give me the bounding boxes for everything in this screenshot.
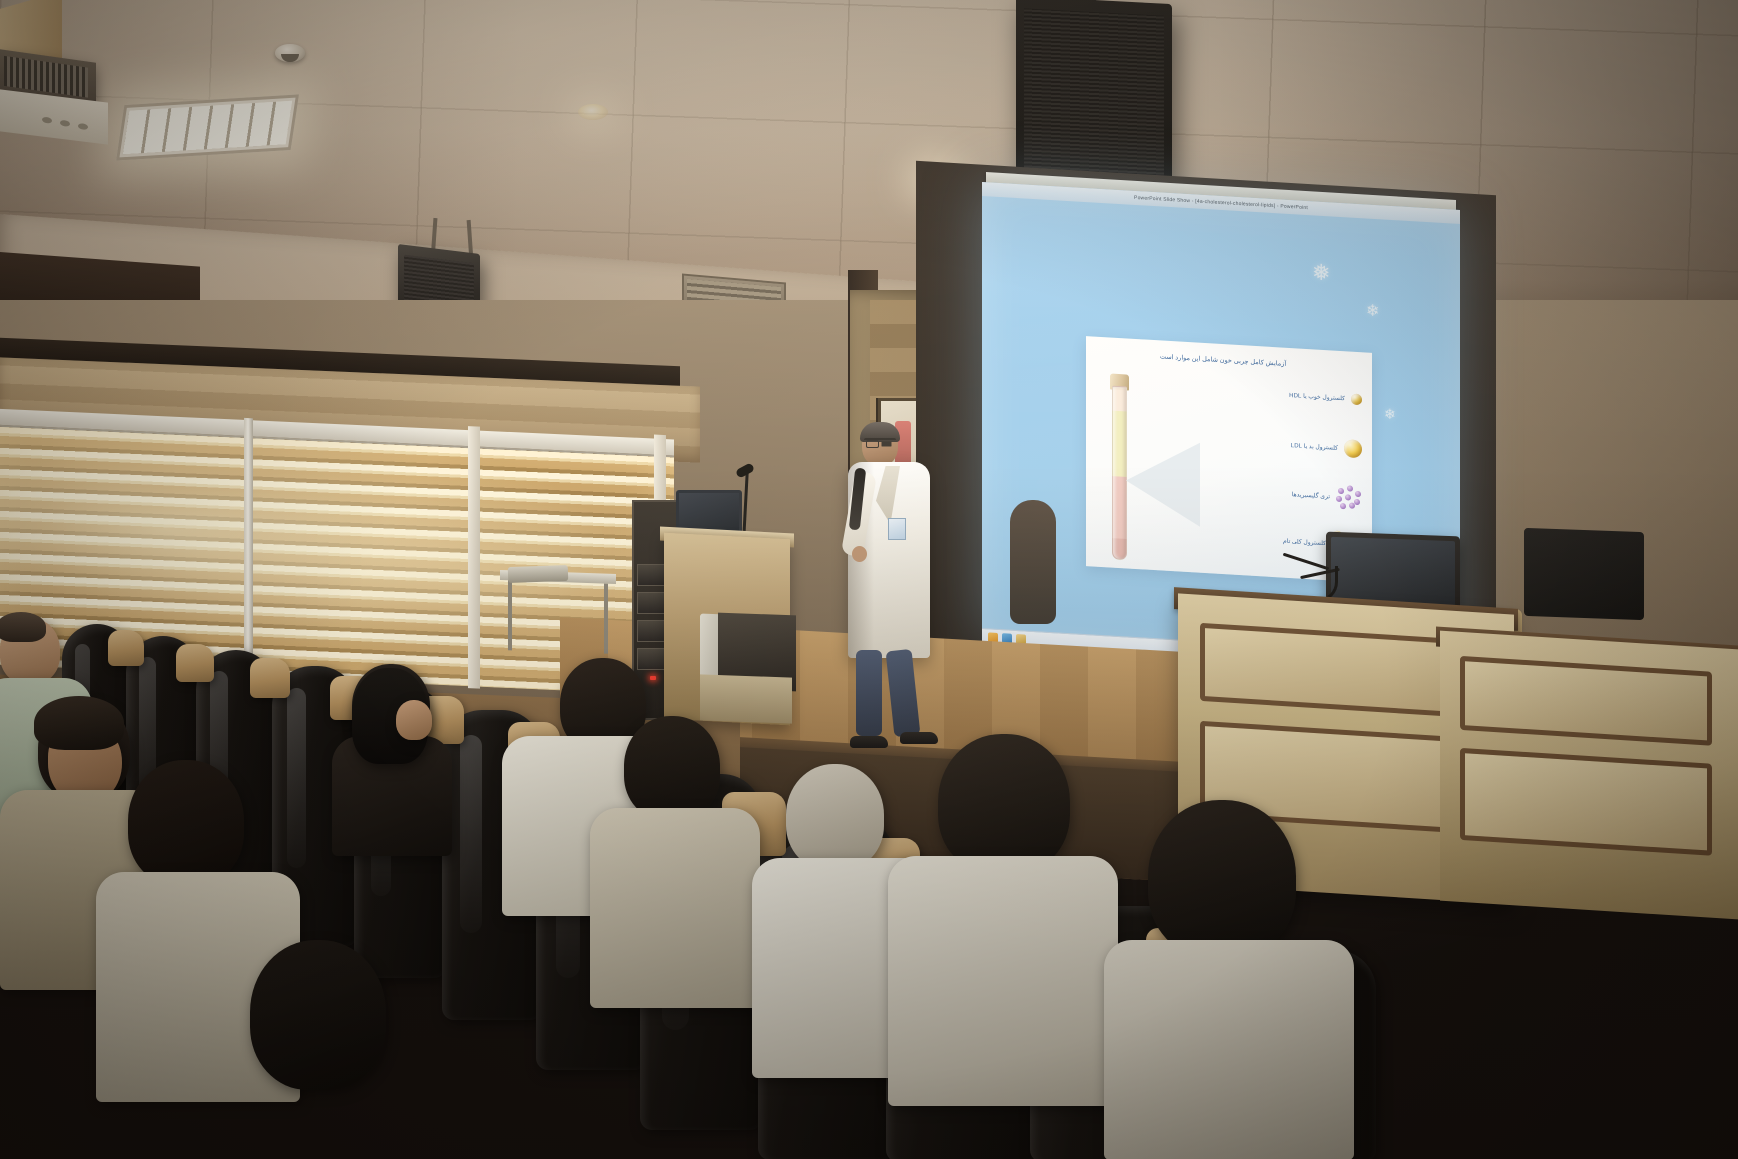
cart-leg [604, 584, 608, 654]
podium-panel [1460, 748, 1712, 856]
audience-head-grey [786, 764, 884, 870]
downlight-icon [578, 104, 608, 120]
slide-item-label: کلسترول خوب یا HDL [1289, 392, 1345, 402]
presenter-hand [852, 546, 867, 562]
light-diffuser-grid [123, 101, 292, 154]
presenter-shoe [850, 736, 888, 748]
slide-item-hdl: کلسترول خوب یا HDL [1289, 390, 1362, 405]
ceiling-light-icon [116, 94, 299, 160]
audience-face [396, 700, 432, 740]
podium-monitor-secondary[interactable] [1524, 528, 1644, 620]
purple-dot-cluster-icon [1336, 485, 1362, 511]
audience-head [128, 760, 244, 886]
podium-panel [1460, 656, 1712, 746]
id-badge [888, 518, 906, 540]
callout-fan [1126, 438, 1200, 526]
slide-item-label: کلسترول کلی تام [1283, 537, 1326, 547]
seat-armrest [250, 658, 290, 698]
presenter-leg [886, 649, 921, 737]
background-silhouette [1010, 500, 1056, 624]
slide-heading: آزمایش کامل چربی خون شامل این موارد است [1086, 348, 1360, 372]
audience-head [938, 734, 1070, 874]
projector-knob [78, 123, 88, 130]
audience-hair [0, 612, 46, 642]
cart-leg [508, 580, 512, 650]
audience-body [1104, 940, 1354, 1159]
test-tube-body [1112, 386, 1127, 561]
slide-item-label: کلسترول بد یا LDL [1291, 442, 1338, 452]
audience-body [888, 856, 1118, 1106]
document-camera-icon [508, 565, 569, 583]
slide-item-label: تری گلیسیریدها [1292, 491, 1330, 500]
equipment-cart [500, 570, 616, 656]
audience-head [624, 716, 720, 820]
presenter-shoe [900, 732, 938, 744]
rack-status-led [650, 676, 656, 680]
audience-body [590, 808, 760, 1008]
glasses-icon [864, 438, 896, 445]
presenter-leg [856, 650, 882, 736]
audience-head [250, 940, 386, 1090]
projector-knob [60, 120, 70, 127]
large-yellow-sphere-icon [1344, 439, 1362, 458]
seat-armrest [176, 644, 214, 682]
slide-item-ldl: کلسترول بد یا LDL [1291, 436, 1362, 458]
presenter [846, 424, 958, 742]
snowflake-icon: ❄ [1366, 300, 1379, 321]
snowflake-icon: ❅ [1312, 259, 1330, 286]
equipment-box-lower [700, 674, 792, 723]
auditorium-photo: PowerPoint Slide Show - [4a-cholesterol-… [0, 0, 1738, 1159]
small-yellow-sphere-icon [1351, 394, 1362, 406]
smoke-detector-icon [275, 44, 305, 62]
projector-knob [42, 117, 52, 124]
slide-item-triglycerides: تری گلیسیریدها [1292, 482, 1362, 510]
window-divider [244, 418, 253, 676]
presenter-legs [856, 650, 928, 742]
audience-hair [34, 696, 124, 750]
snowflake-icon: ❄ [1384, 406, 1396, 424]
lectern-right-secondary [1440, 631, 1738, 920]
audience-head [1148, 800, 1296, 958]
speaker-grille [1024, 8, 1164, 180]
window-mullion [468, 426, 480, 689]
seat-armrest [108, 630, 144, 666]
